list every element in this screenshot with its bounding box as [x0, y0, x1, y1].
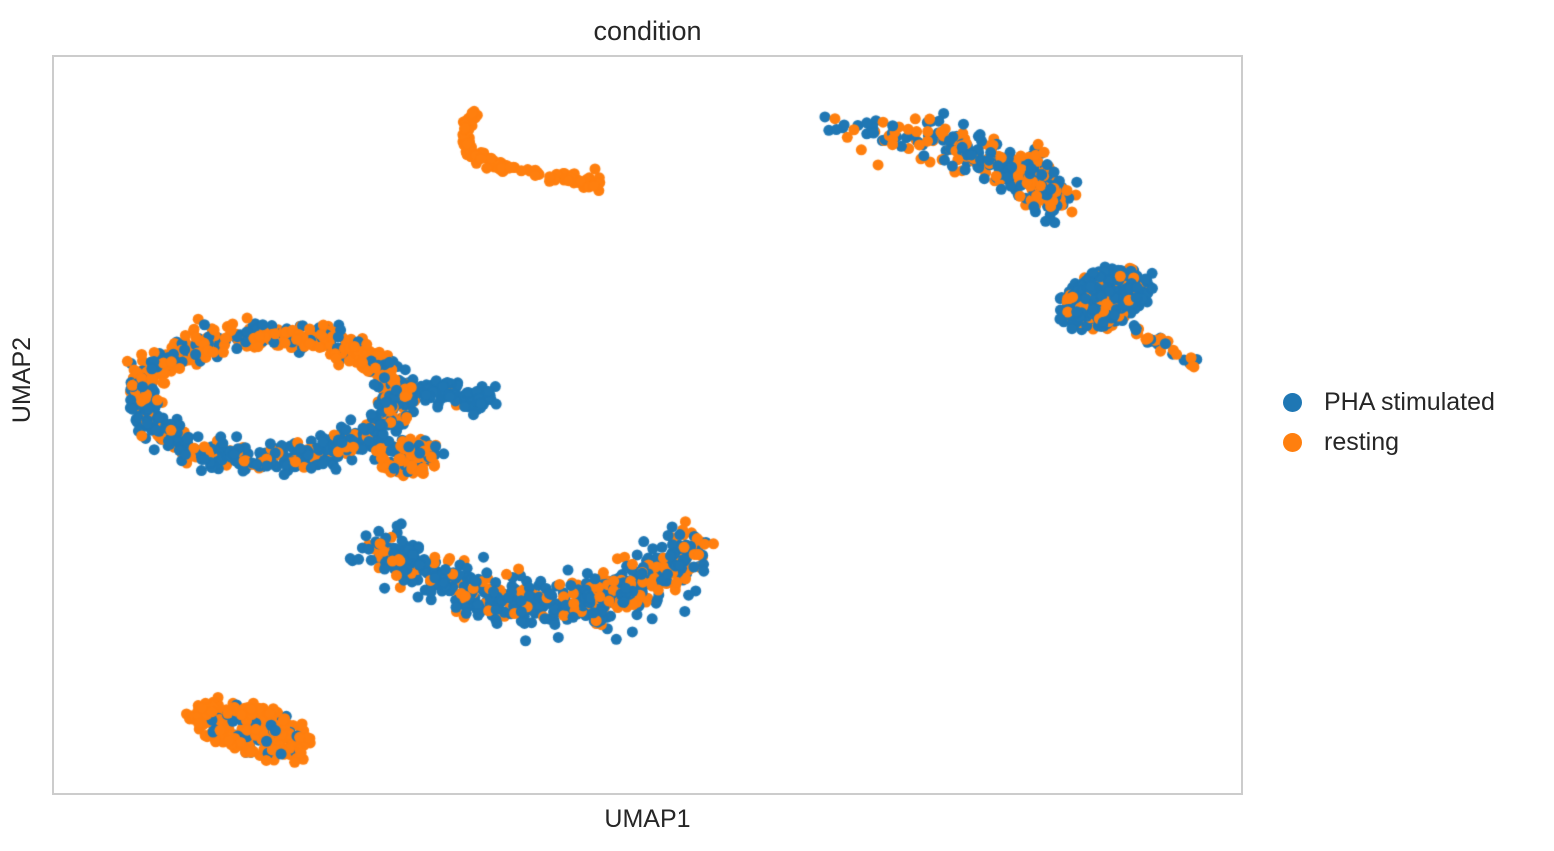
- legend-label-resting: resting: [1324, 428, 1399, 456]
- legend-label-pha-stimulated: PHA stimulated: [1324, 388, 1495, 416]
- legend: PHA stimulated resting: [1283, 388, 1495, 456]
- chart-title: condition: [52, 14, 1243, 48]
- y-axis-label-container: UMAP2: [0, 360, 82, 400]
- scatter-plot-canvas: [54, 57, 1241, 793]
- umap-scatter-figure: condition UMAP2 UMAP1 PHA stimulated res…: [0, 0, 1554, 851]
- plot-area: [52, 55, 1243, 795]
- x-axis-label: UMAP1: [52, 803, 1243, 835]
- legend-swatch-icon-resting: [1283, 433, 1302, 452]
- legend-item-pha-stimulated[interactable]: PHA stimulated: [1283, 388, 1495, 416]
- legend-item-resting[interactable]: resting: [1283, 428, 1495, 456]
- legend-swatch-icon-pha-stimulated: [1283, 393, 1302, 412]
- y-axis-label: UMAP2: [7, 337, 37, 423]
